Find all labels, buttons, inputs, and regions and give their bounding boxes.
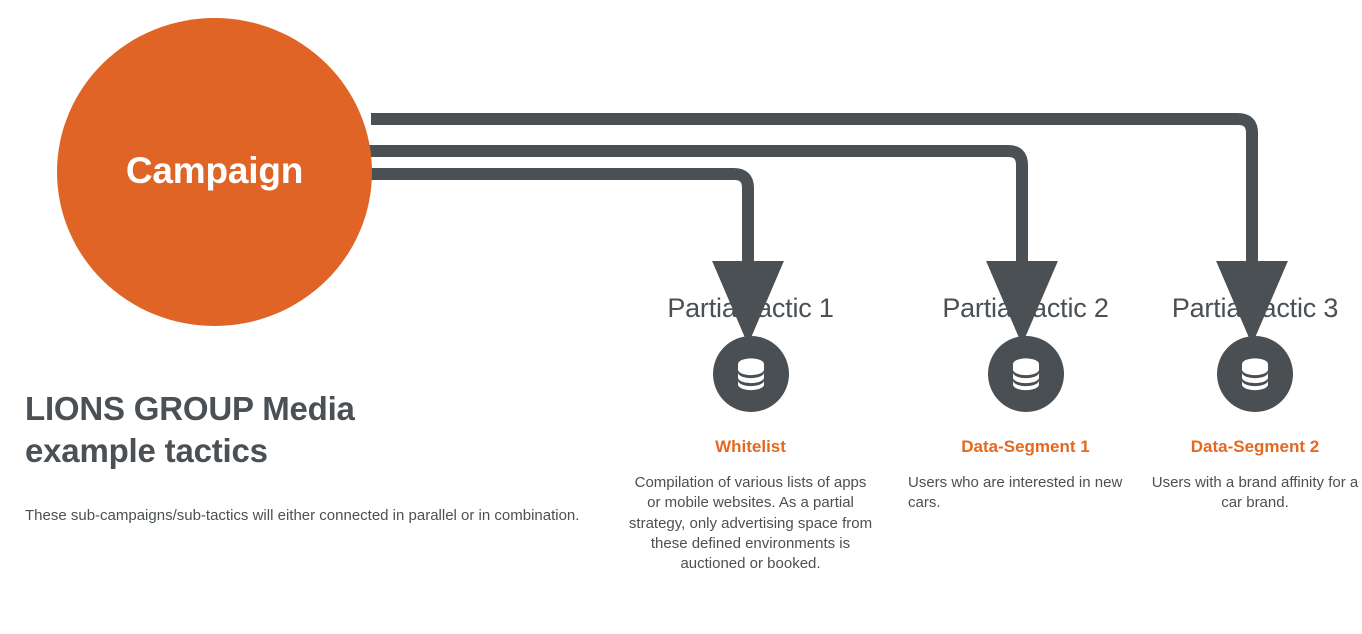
page-title: LIONS GROUP Media example tactics bbox=[25, 388, 585, 472]
diagram-canvas: Campaign LIONS GROUP Media example tacti… bbox=[0, 0, 1362, 634]
tactic-icon-wrap-1 bbox=[628, 336, 873, 412]
connector-arrow-1 bbox=[362, 174, 748, 262]
tactic-column-2: Partial tactic 2 Data-Segment 1 Users wh… bbox=[908, 294, 1143, 514]
campaign-node[interactable]: Campaign bbox=[57, 18, 372, 326]
page-title-line-2: example tactics bbox=[25, 432, 268, 469]
tactic-title-3: Partial tactic 3 bbox=[1148, 294, 1362, 324]
tactic-icon-wrap-3 bbox=[1148, 336, 1362, 412]
page-subtitle: These sub-campaigns/sub-tactics will eit… bbox=[25, 505, 585, 526]
tactic-label-3: Data-Segment 2 bbox=[1148, 437, 1362, 457]
connector-arrow-2 bbox=[368, 151, 1022, 262]
tactic-title-1: Partial tactic 1 bbox=[628, 294, 873, 324]
tactic-column-3: Partial tactic 3 Data-Segment 2 Users wi… bbox=[1148, 294, 1362, 514]
campaign-label: Campaign bbox=[126, 152, 303, 189]
database-icon[interactable] bbox=[713, 336, 789, 412]
database-icon[interactable] bbox=[1217, 336, 1293, 412]
database-icon[interactable] bbox=[988, 336, 1064, 412]
tactic-label-2: Data-Segment 1 bbox=[908, 437, 1143, 457]
tactic-label-1: Whitelist bbox=[628, 437, 873, 457]
page-title-line-1: LIONS GROUP Media bbox=[25, 390, 355, 427]
tactic-description-3: Users with a brand affinity for a car br… bbox=[1148, 473, 1362, 514]
tactic-description-1: Compilation of various lists of apps or … bbox=[628, 473, 873, 574]
tactic-column-1: Partial tactic 1 Whitelist Compilation o… bbox=[628, 294, 873, 574]
tactic-icon-wrap-2 bbox=[908, 336, 1143, 412]
tactic-title-2: Partial tactic 2 bbox=[908, 294, 1143, 324]
tactic-description-2: Users who are interested in new cars. bbox=[908, 473, 1143, 514]
connector-arrow-3 bbox=[371, 119, 1252, 262]
